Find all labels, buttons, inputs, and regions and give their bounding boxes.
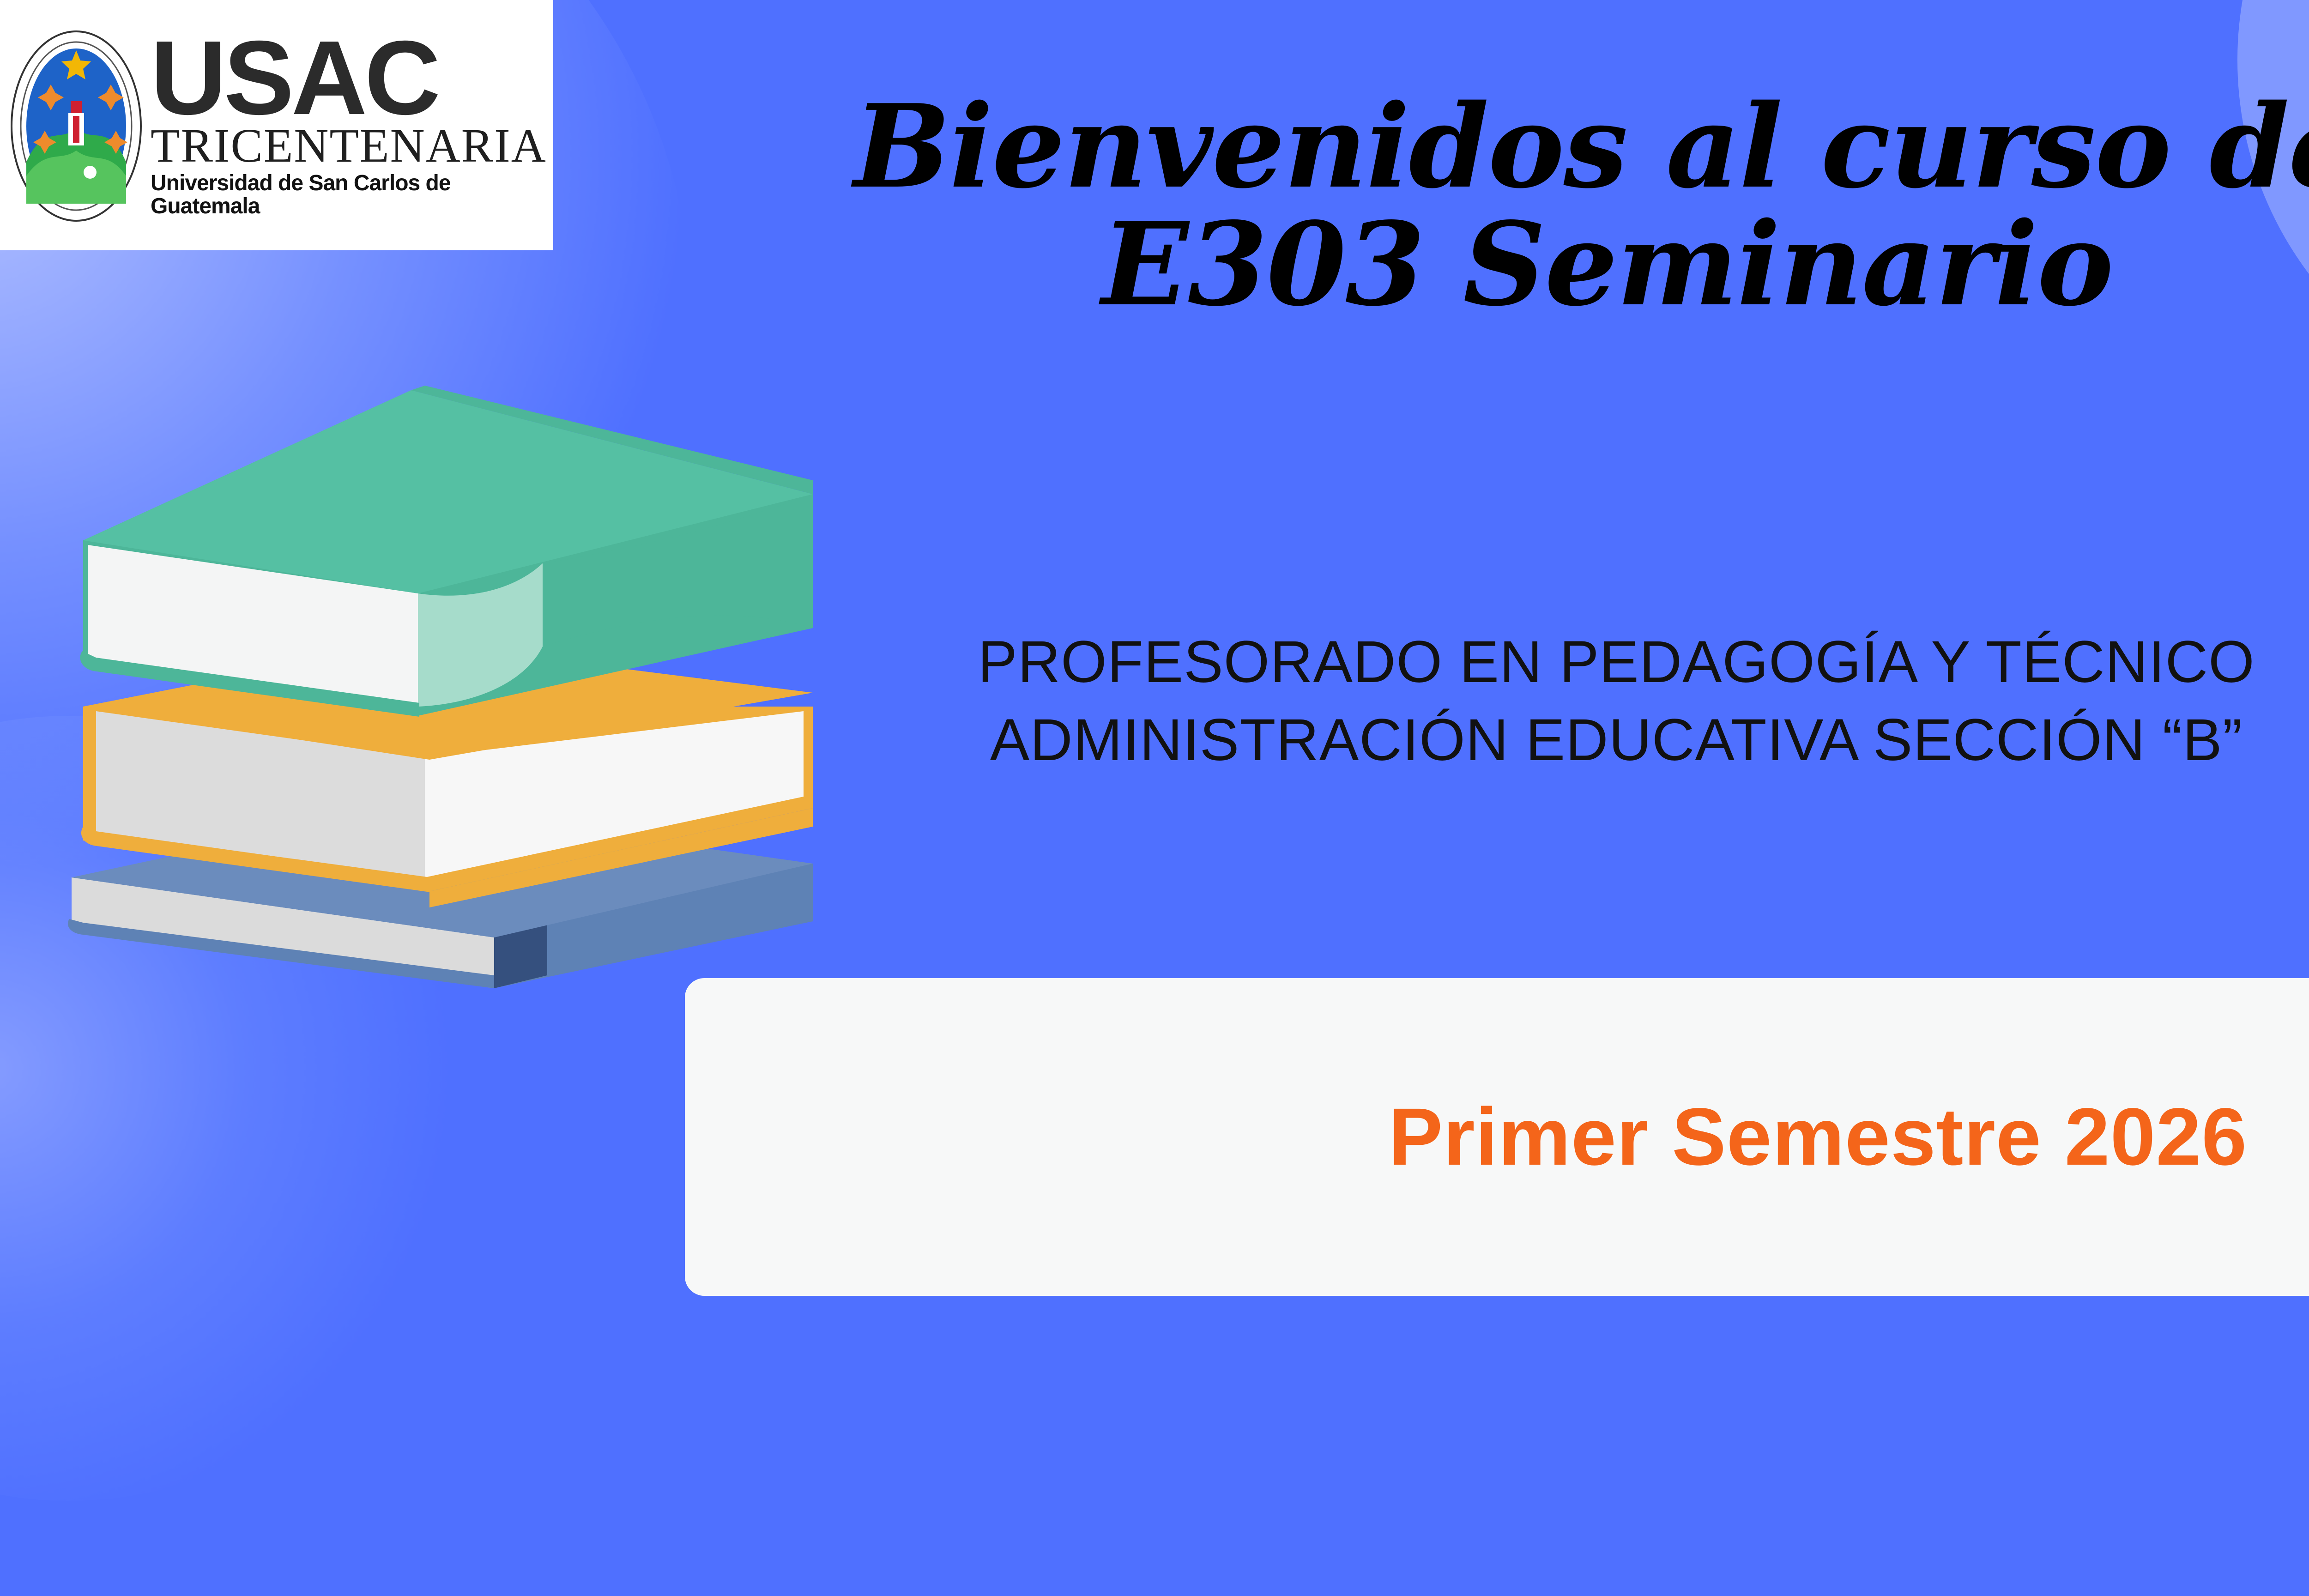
usac-acronym: USAC <box>151 32 551 125</box>
page-title: Bienvenidos al curso de E303 Seminario <box>693 88 2309 324</box>
semester-card: Primer Semestre 2026 <box>685 978 2309 1296</box>
semester-label: Primer Semestre 2026 <box>1389 1090 2248 1184</box>
usac-seal-icon <box>9 24 143 227</box>
slide-canvas: USAC TRICENTENARIA Universidad de San Ca… <box>0 0 2309 1596</box>
usac-tricentenaria-text: TRICENTENARIA <box>151 122 551 170</box>
usac-university-caption: Universidad de San Carlos de Guatemala <box>151 172 551 218</box>
program-subtitle: PROFESORADO EN PEDAGOGÍA Y TÉCNICO ADMIN… <box>647 623 2309 780</box>
usac-logo-card: USAC TRICENTENARIA Universidad de San Ca… <box>0 0 553 250</box>
